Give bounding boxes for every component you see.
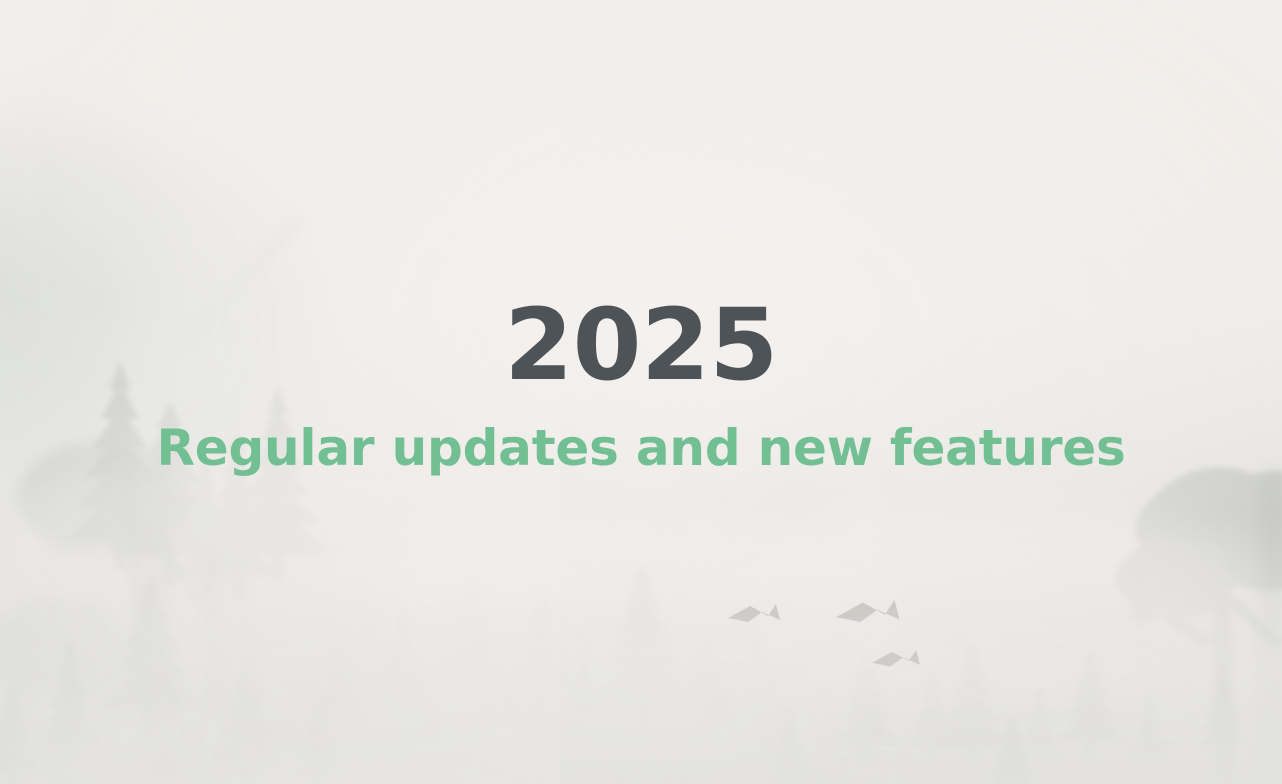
page-subtitle: Regular updates and new features <box>0 423 1282 473</box>
final-haze <box>0 600 1282 784</box>
slide-text-block: 2025 Regular updates and new features <box>0 296 1282 473</box>
title-slide: 2025 Regular updates and new features <box>0 0 1282 784</box>
page-title-year: 2025 <box>0 296 1282 395</box>
